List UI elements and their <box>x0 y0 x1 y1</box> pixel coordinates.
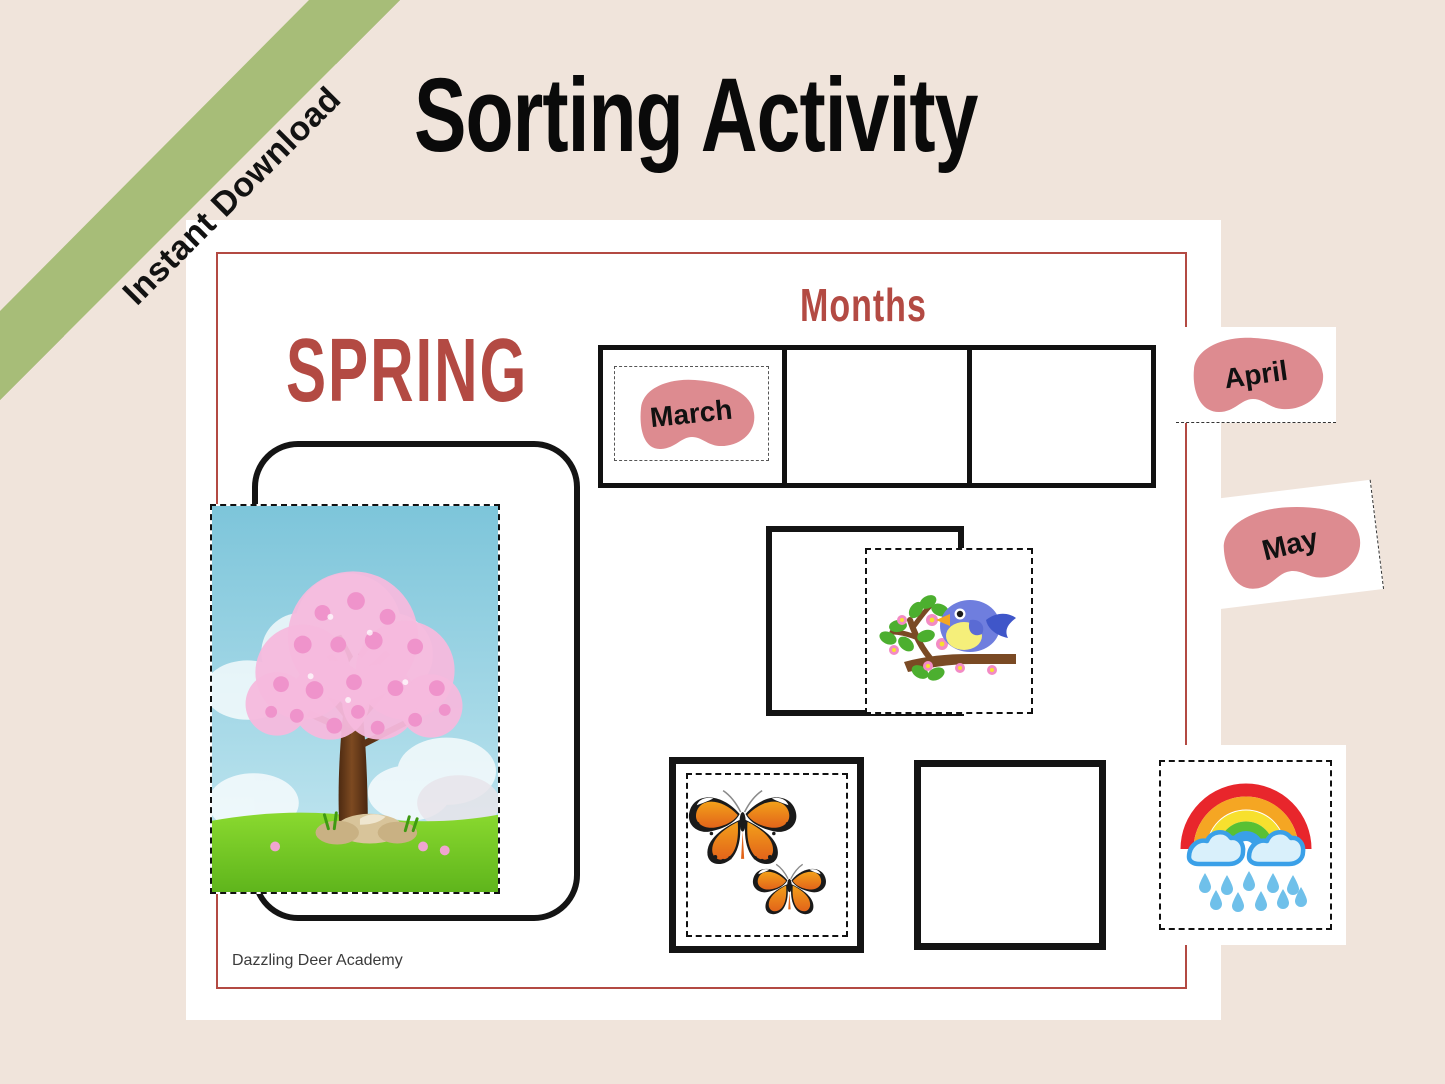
cherry-blossom-tree-icon <box>212 506 498 892</box>
ribbon-fold-top <box>309 0 400 64</box>
worksheet-footer: Dazzling Deer Academy <box>232 952 403 970</box>
bird-on-branch-card[interactable] <box>865 548 1033 714</box>
months-answer-row: March <box>598 345 1156 488</box>
butterflies-card[interactable] <box>686 773 848 937</box>
month-slot-1[interactable]: March <box>603 350 782 483</box>
empty-answer-box[interactable] <box>914 760 1106 950</box>
rainbow-rain-card[interactable] <box>1159 760 1332 930</box>
worksheet-mockup: Sorting Activity SPRING Months March <box>0 0 1445 1084</box>
april-token-card[interactable]: April <box>1176 327 1336 423</box>
page-title: Sorting Activity <box>414 64 977 169</box>
bird-on-branch-icon <box>874 576 1024 686</box>
month-slot-3[interactable] <box>967 350 1151 483</box>
month-slot-2[interactable] <box>782 350 966 483</box>
butterflies-icon <box>688 775 846 935</box>
ribbon-fold-bottom <box>0 311 64 400</box>
cherry-blossom-tree-card[interactable] <box>210 504 500 894</box>
rainbow-rain-icon <box>1171 775 1321 915</box>
season-heading: SPRING <box>286 327 528 417</box>
month-token-march[interactable]: March <box>614 366 769 461</box>
months-heading: Months <box>800 283 927 329</box>
may-token-card[interactable]: May <box>1197 480 1384 611</box>
